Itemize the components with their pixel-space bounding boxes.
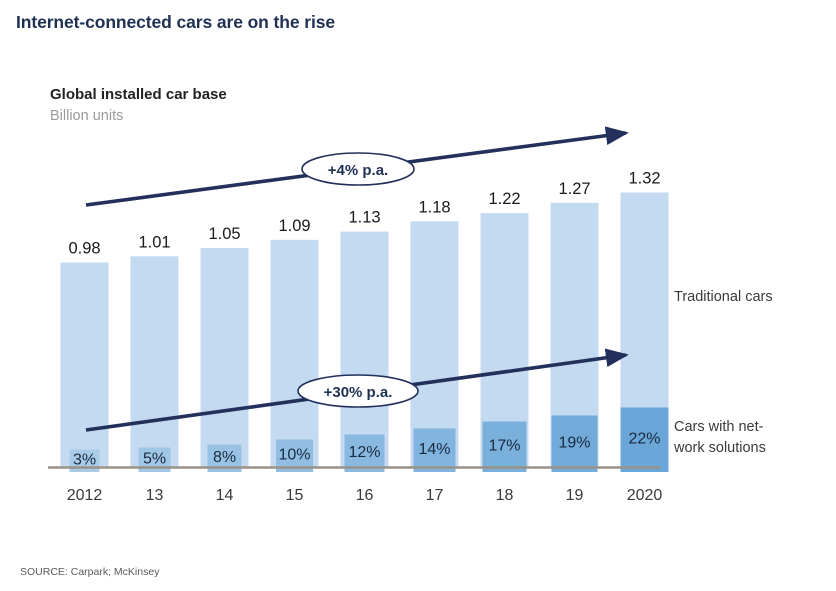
x-axis-tick-label: 17 xyxy=(426,487,444,504)
bar-value-label: 1.09 xyxy=(278,217,310,235)
bar-value-label: 1.32 xyxy=(628,170,660,188)
x-axis-tick-label: 2012 xyxy=(67,487,103,504)
bar-value-label: 1.22 xyxy=(488,190,520,208)
growth-annotation-top: +4% p.a. xyxy=(86,133,626,205)
bar-percent-label: 22% xyxy=(628,431,660,448)
legend-label-traditional: Traditional cars xyxy=(674,289,773,305)
bar-segment-traditional xyxy=(131,256,179,467)
bar-percent-label: 14% xyxy=(418,441,450,458)
x-axis-tick-label: 15 xyxy=(286,487,304,504)
bar-value-label: 1.18 xyxy=(418,198,450,216)
bar-segment-traditional xyxy=(341,232,389,468)
bar-chart: 0.981.011.051.091.131.181.221.271.323%5%… xyxy=(0,0,836,591)
x-axis-tick-label: 2020 xyxy=(627,487,663,504)
bar-value-label: 0.98 xyxy=(68,240,100,258)
x-axis-tick-label: 14 xyxy=(216,487,234,504)
bottom-callout-label: +30% p.a. xyxy=(324,384,393,401)
bar-percent-label: 8% xyxy=(213,449,236,466)
bar-percent-label: 17% xyxy=(488,438,520,455)
bar-percent-label: 5% xyxy=(143,451,166,468)
legend-label-connected-line2: work solutions xyxy=(673,440,766,456)
chart-legend: Traditional cars Cars with net- work sol… xyxy=(673,289,773,456)
bar-value-label: 1.13 xyxy=(348,209,380,227)
bar-percent-label: 12% xyxy=(348,444,380,461)
bar-percent-label: 10% xyxy=(278,447,310,464)
bar-segment-traditional xyxy=(271,240,319,468)
x-axis-tick-label: 19 xyxy=(566,487,584,504)
x-axis-tick-label: 13 xyxy=(146,487,164,504)
bar-value-label: 1.27 xyxy=(558,180,590,198)
x-axis-tick-label: 16 xyxy=(356,487,374,504)
x-axis-labels: 2012131415161718192020 xyxy=(67,487,663,504)
bar-value-label: 1.01 xyxy=(138,233,170,251)
top-callout-label: +4% p.a. xyxy=(328,162,388,179)
x-axis-tick-label: 18 xyxy=(496,487,514,504)
bar-segment-traditional xyxy=(61,263,109,468)
bar-segment-traditional xyxy=(201,248,249,467)
bar-percent-label: 3% xyxy=(73,452,96,469)
bar-percent-label: 19% xyxy=(558,435,590,452)
bar-value-label: 1.05 xyxy=(208,225,240,243)
legend-label-connected-line1: Cars with net- xyxy=(674,419,764,435)
